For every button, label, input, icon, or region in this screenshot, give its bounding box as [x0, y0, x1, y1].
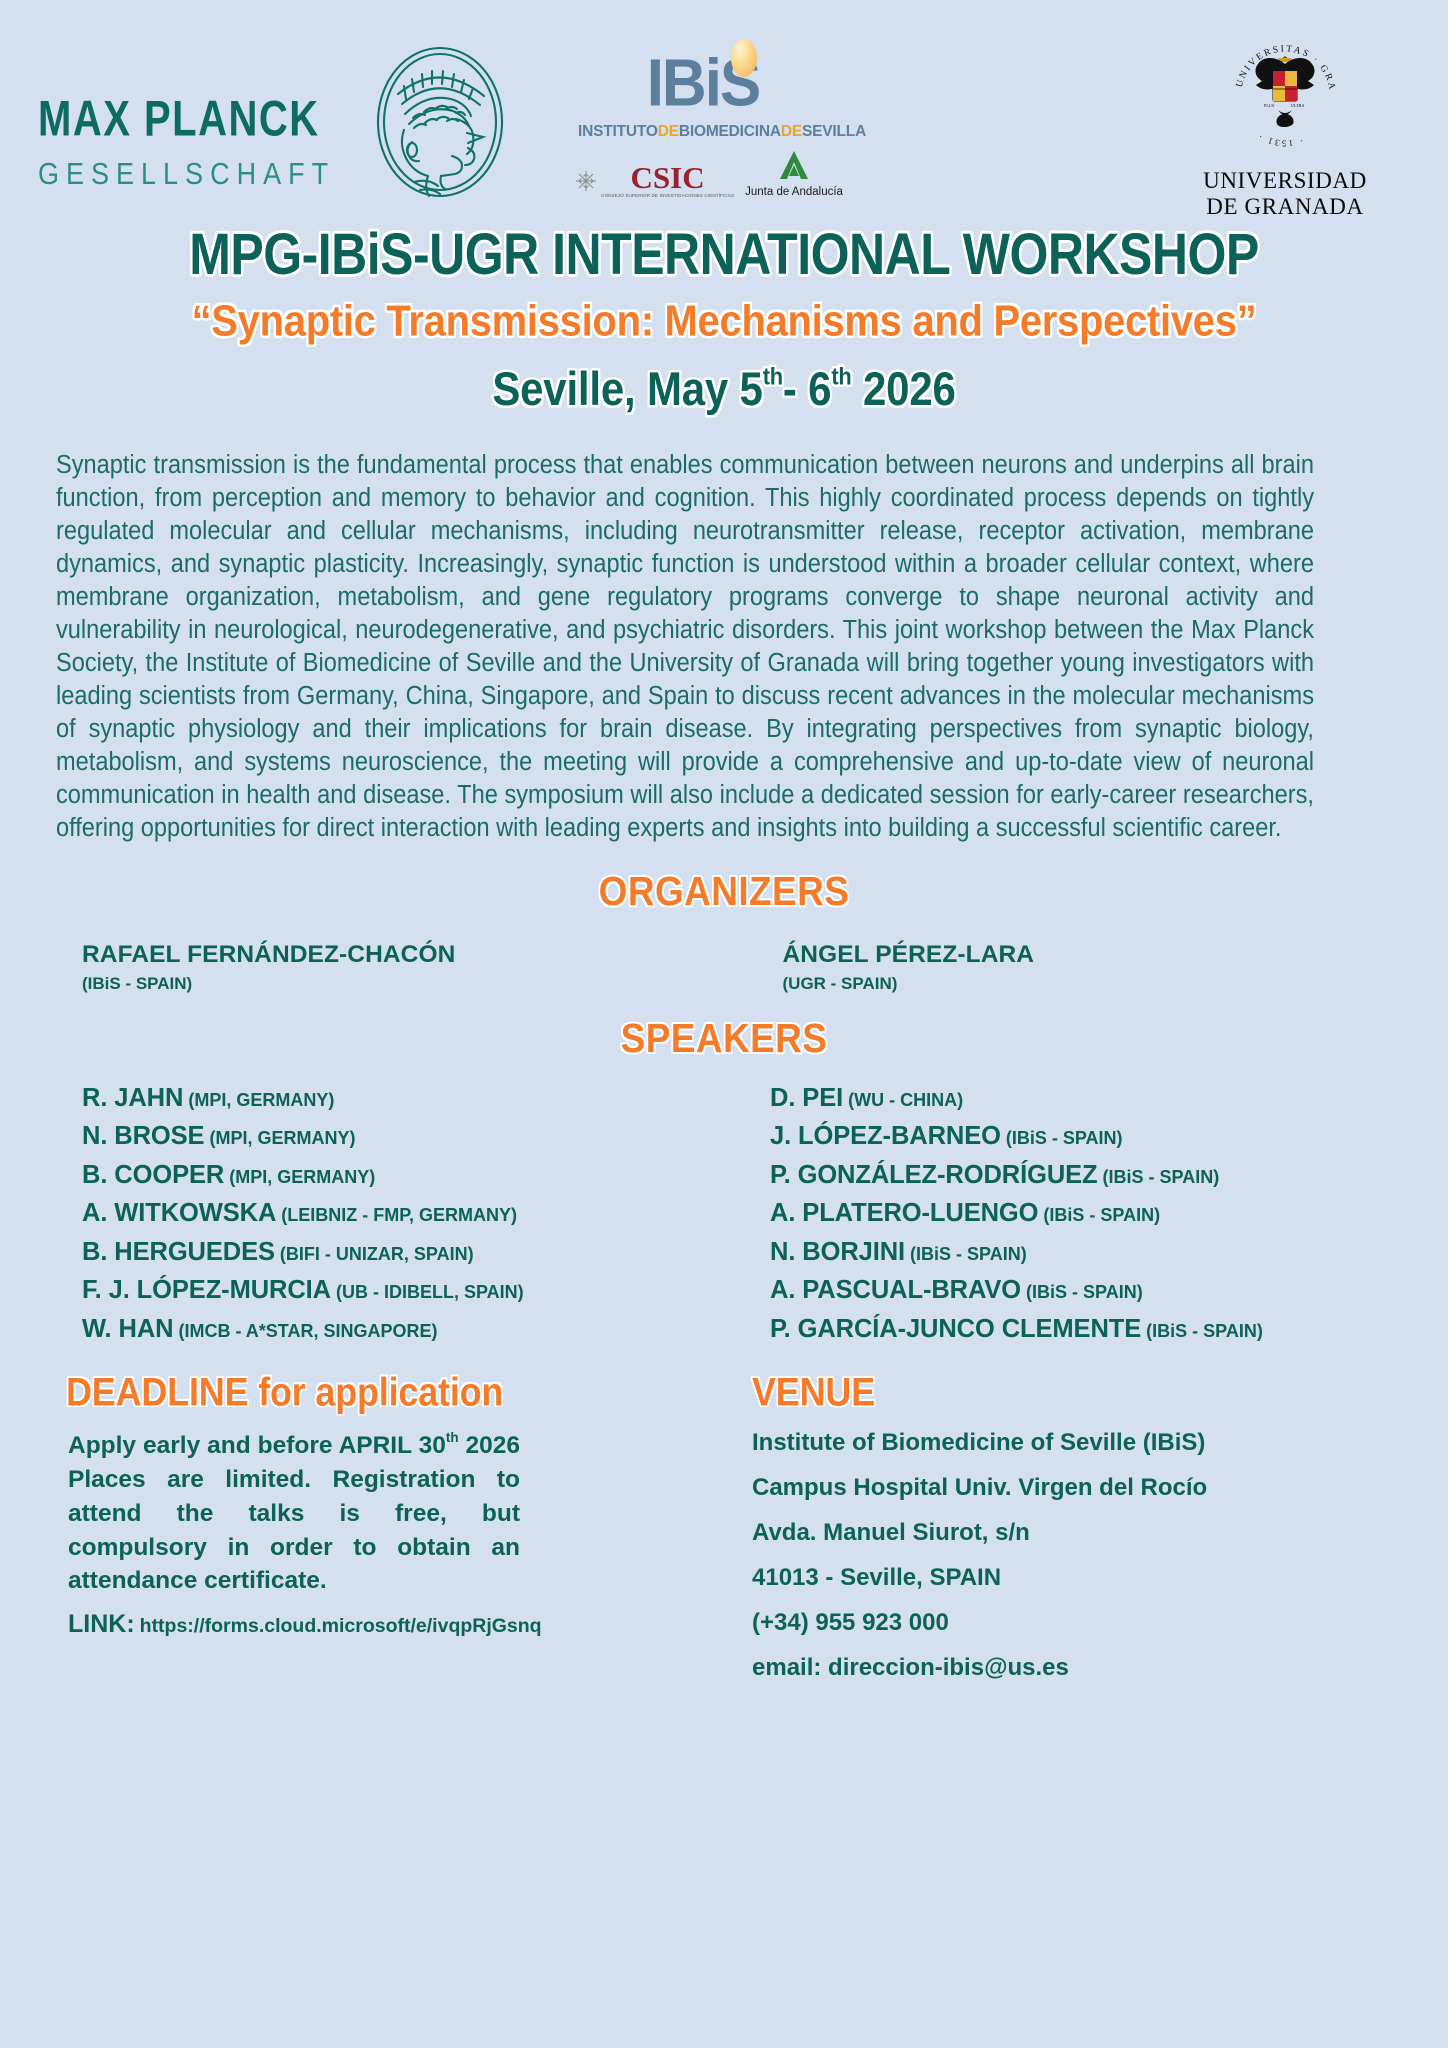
speaker-affiliation: (MPI, GERMANY): [188, 1090, 334, 1110]
speaker-affiliation: (IBiS - SPAIN): [910, 1244, 1027, 1264]
link-label: LINK:: [68, 1610, 135, 1638]
deadline-heading: DEADLINE for application: [66, 1369, 722, 1415]
organizer-name: ÁNGEL PÉREZ-LARA: [783, 941, 1389, 969]
svg-text:PLUS: PLUS: [1264, 103, 1275, 108]
speaker-name: B. HERGUEDES: [82, 1238, 275, 1266]
speaker-name: A. PLATERO-LUENGO: [770, 1199, 1038, 1227]
speaker-affiliation: (WU - CHINA): [848, 1090, 963, 1110]
speaker-name: A. WITKOWSKA: [82, 1199, 276, 1227]
page-title: MPG-IBiS-UGR INTERNATIONAL WORKSHOP: [0, 224, 1448, 285]
max-planck-line1: MAX PLANCK: [38, 94, 358, 144]
ibis-sub-biomedicina: BIOMEDICINA: [679, 123, 781, 140]
speakers-column-right: D. PEI(WU - CHINA) J. LÓPEZ-BARNEO(IBiS …: [740, 1086, 1428, 1356]
speakers-heading: SPEAKERS: [0, 1016, 1448, 1062]
bottom-sections: DEADLINE for application Apply early and…: [0, 1369, 1448, 1699]
venue-line: Campus Hospital Univ. Virgen del Rocío: [752, 1474, 1408, 1502]
list-item: P. GONZÁLEZ-RODRÍGUEZ(IBiS - SPAIN): [770, 1163, 1428, 1189]
workshop-date: Seville, May 5th- 6th 2026: [0, 362, 1448, 416]
list-item: N. BORJINI(IBiS - SPAIN): [770, 1240, 1428, 1266]
deadline-section: DEADLINE for application Apply early and…: [66, 1369, 722, 1699]
ibis-sub-sevilla: SEVILLA: [802, 123, 866, 140]
venue-phone: (+34) 955 923 000: [752, 1609, 1408, 1637]
speaker-name: P. GONZÁLEZ-RODRÍGUEZ: [770, 1161, 1098, 1189]
organizer-name: RAFAEL FERNÁNDEZ-CHACÓN: [82, 941, 688, 969]
organizer-entry: ÁNGEL PÉREZ-LARA (UGR - SPAIN): [688, 941, 1389, 994]
speaker-affiliation: (IMCB - A*STAR, SINGAPORE): [178, 1321, 437, 1341]
junta-andalucia-logo: Junta de Andalucía: [745, 150, 843, 198]
ibis-subtitle: INSTITUTODEBIOMEDICINADESEVILLA: [578, 124, 828, 140]
date-sup-first: th: [763, 362, 783, 390]
speaker-name: R. JAHN: [82, 1084, 183, 1112]
organizers-list: RAFAEL FERNÁNDEZ-CHACÓN (IBiS - SPAIN) Á…: [0, 941, 1448, 994]
list-item: D. PEI(WU - CHINA): [770, 1086, 1428, 1112]
csic-logo: CSIC CONSEJO SUPERIOR DE INVESTIGACIONES…: [574, 165, 734, 197]
abstract-paragraph: Synaptic transmission is the fundamental…: [56, 449, 1314, 845]
ibis-dot-icon: [731, 39, 757, 77]
max-planck-wordmark: MAX PLANCK GESELLSCHAFT: [38, 94, 358, 188]
venue-line: 41013 - Seville, SPAIN: [752, 1564, 1408, 1592]
speaker-affiliation: (IBiS - SPAIN): [1043, 1205, 1160, 1225]
svg-text:ULTRA: ULTRA: [1291, 103, 1305, 108]
list-item: N. BROSE(MPI, GERMANY): [82, 1124, 740, 1150]
speaker-affiliation: (LEIBNIZ - FMP, GERMANY): [281, 1205, 517, 1225]
speaker-name: N. BROSE: [82, 1122, 204, 1150]
list-item: B. COOPER(MPI, GERMANY): [82, 1163, 740, 1189]
ibis-wordmark: IBiS: [578, 48, 828, 120]
list-item: W. HAN(IMCB - A*STAR, SINGAPORE): [82, 1317, 740, 1343]
junta-a-icon: [777, 150, 811, 180]
list-item: F. J. LÓPEZ-MURCIA(UB - IDIBELL, SPAIN): [82, 1278, 740, 1304]
deadline-body: Apply early and before APRIL 30th 2026 P…: [68, 1429, 520, 1598]
ugr-seal-icon: UNIVERSITAS · GRANATENSIS · 1531 · PLUS …: [1223, 34, 1348, 159]
ibis-partner-logos: UNIVERSIDAD DE SEVILLA u CSIC CONSEJO SU…: [578, 150, 828, 198]
speaker-affiliation: (UB - IDIBELL, SPAIN): [336, 1282, 524, 1302]
title-block: MPG-IBiS-UGR INTERNATIONAL WORKSHOP “Syn…: [0, 224, 1448, 411]
speaker-name: F. J. LÓPEZ-MURCIA: [82, 1276, 331, 1304]
speakers-column-left: R. JAHN(MPI, GERMANY) N. BROSE(MPI, GERM…: [82, 1086, 740, 1356]
logo-bar: MAX PLANCK GESELLSCHAFT: [0, 0, 1448, 212]
application-link-url[interactable]: https://forms.cloud.microsoft/e/ivqpRjGs…: [140, 1615, 542, 1637]
list-item: R. JAHN(MPI, GERMANY): [82, 1086, 740, 1112]
list-item: A. PASCUAL-BRAVO(IBiS - SPAIN): [770, 1278, 1428, 1304]
venue-line: Avda. Manuel Siurot, s/n: [752, 1519, 1408, 1547]
minerva-head-icon: [368, 42, 513, 207]
date-prefix: Seville, May 5: [492, 363, 762, 416]
speaker-name: W. HAN: [82, 1315, 173, 1343]
speaker-name: P. GARCÍA-JUNCO CLEMENTE: [770, 1315, 1141, 1343]
speaker-affiliation: (MPI, GERMANY): [229, 1167, 375, 1187]
date-sup-second: th: [831, 362, 851, 390]
ugr-name-line1: UNIVERSIDAD: [1180, 168, 1390, 194]
csic-snowflake-icon: [574, 169, 598, 193]
list-item: A. PLATERO-LUENGO(IBiS - SPAIN): [770, 1201, 1428, 1227]
date-year: 2026: [863, 363, 956, 416]
venue-line: Institute of Biomedicine of Seville (IBi…: [752, 1429, 1408, 1457]
speaker-affiliation: (IBiS - SPAIN): [1006, 1128, 1123, 1148]
max-planck-line2: GESELLSCHAFT: [38, 157, 358, 192]
speaker-affiliation: (MPI, GERMANY): [209, 1128, 355, 1148]
venue-section: VENUE Institute of Biomedicine of Sevill…: [722, 1369, 1408, 1699]
speaker-name: A. PASCUAL-BRAVO: [770, 1276, 1021, 1304]
venue-email[interactable]: email: direccion-ibis@us.es: [752, 1654, 1408, 1682]
speaker-name: N. BORJINI: [770, 1238, 905, 1266]
junta-andalucia-label: Junta de Andalucía: [745, 186, 843, 198]
ugr-logo: UNIVERSITAS · GRANATENSIS · 1531 · PLUS …: [1180, 34, 1390, 220]
organizer-affiliation: (UGR - SPAIN): [783, 974, 1389, 994]
speaker-affiliation: (BIFI - UNIZAR, SPAIN): [280, 1244, 474, 1264]
speaker-affiliation: (IBiS - SPAIN): [1146, 1321, 1263, 1341]
speaker-name: D. PEI: [770, 1084, 843, 1112]
ibis-sub-de1: DE: [658, 123, 679, 140]
ibis-sub-de2: DE: [781, 123, 802, 140]
application-link-row[interactable]: LINK:https://forms.cloud.microsoft/e/ivq…: [68, 1610, 722, 1639]
venue-heading: VENUE: [752, 1369, 1408, 1415]
date-middle: - 6: [783, 363, 831, 416]
list-item: P. GARCÍA-JUNCO CLEMENTE(IBiS - SPAIN): [770, 1317, 1428, 1343]
deadline-body-part1: Apply early and before APRIL 30: [68, 1432, 446, 1459]
ugr-name-line2: DE GRANADA: [1180, 194, 1390, 220]
list-item: A. WITKOWSKA(LEIBNIZ - FMP, GERMANY): [82, 1201, 740, 1227]
speaker-name: B. COOPER: [82, 1161, 224, 1189]
speaker-affiliation: (IBiS - SPAIN): [1026, 1282, 1143, 1302]
workshop-subtitle: “Synaptic Transmission: Mechanisms and P…: [0, 298, 1448, 344]
speakers-list: R. JAHN(MPI, GERMANY) N. BROSE(MPI, GERM…: [0, 1086, 1448, 1356]
csic-legend: CONSEJO SUPERIOR DE INVESTIGACIONES CIEN…: [601, 193, 734, 198]
svg-text:· 1531 ·: · 1531 ·: [1255, 130, 1304, 148]
organizers-heading: ORGANIZERS: [0, 869, 1448, 915]
list-item: B. HERGUEDES(BIFI - UNIZAR, SPAIN): [82, 1240, 740, 1266]
speaker-name: J. LÓPEZ-BARNEO: [770, 1122, 1001, 1150]
list-item: J. LÓPEZ-BARNEO(IBiS - SPAIN): [770, 1124, 1428, 1150]
deadline-ordinal: th: [446, 1430, 459, 1445]
ibis-sub-instituto: INSTITUTO: [578, 123, 658, 140]
ibis-logo: IBiS INSTITUTODEBIOMEDICINADESEVILLA UNI…: [578, 48, 828, 198]
max-planck-logo: MAX PLANCK GESELLSCHAFT: [38, 56, 518, 201]
organizer-affiliation: (IBiS - SPAIN): [82, 974, 688, 994]
ugr-name: UNIVERSIDAD DE GRANADA: [1180, 168, 1390, 220]
csic-wordmark: CSIC: [601, 165, 734, 191]
speaker-affiliation: (IBiS - SPAIN): [1103, 1167, 1220, 1187]
organizer-entry: RAFAEL FERNÁNDEZ-CHACÓN (IBiS - SPAIN): [82, 941, 688, 994]
